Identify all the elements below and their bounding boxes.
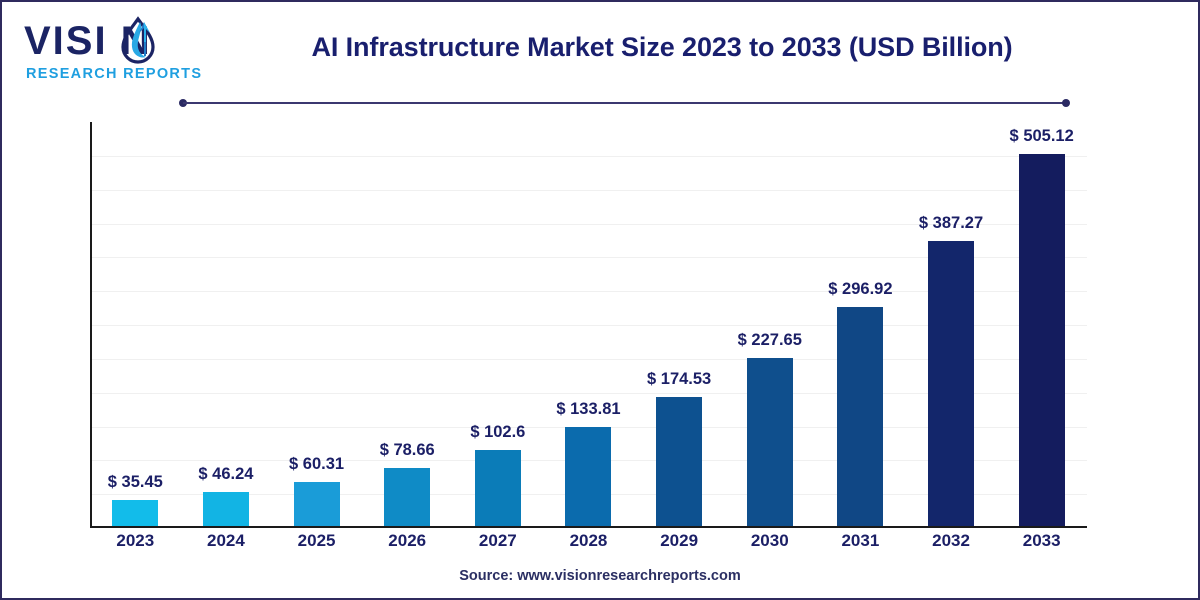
bar-slot: $ 46.24 <box>181 122 272 526</box>
x-axis-tick-2032: 2032 <box>906 531 997 551</box>
x-axis-tick-2028: 2028 <box>543 531 634 551</box>
x-axis-tick-2030: 2030 <box>724 531 815 551</box>
x-axis-tick-2026: 2026 <box>362 531 453 551</box>
x-axis-tick-labels: 2023202420252026202720282029203020312032… <box>90 531 1087 559</box>
bar-chart-plot-area: $ 35.45$ 46.24$ 60.31$ 78.66$ 102.6$ 133… <box>90 122 1087 528</box>
bar-value-label: $ 227.65 <box>738 331 802 350</box>
bar[interactable] <box>837 307 883 526</box>
source-caption: Source: www.visionresearchreports.com <box>2 568 1198 584</box>
logo-tagline: RESEARCH REPORTS <box>26 66 202 82</box>
x-axis-line <box>90 526 1087 528</box>
logo-wordmark: VISI N <box>24 18 204 64</box>
bar-value-label: $ 35.45 <box>108 473 163 492</box>
bar-slot: $ 505.12 <box>996 122 1087 526</box>
x-axis-tick-2033: 2033 <box>996 531 1087 551</box>
bar-slot: $ 35.45 <box>90 122 181 526</box>
header-divider <box>179 101 1070 104</box>
bar-value-label: $ 78.66 <box>380 441 435 460</box>
bar-slot: $ 102.6 <box>453 122 544 526</box>
bar-value-label: $ 174.53 <box>647 370 711 389</box>
chart-page: VISI N RESEARCH REPORTS AI Infrastructur… <box>0 0 1200 600</box>
bar-slot: $ 227.65 <box>724 122 815 526</box>
vision-research-reports-logo: VISI N RESEARCH REPORTS <box>24 18 204 88</box>
bar[interactable] <box>384 468 430 526</box>
bar[interactable] <box>656 397 702 526</box>
bar-value-label: $ 46.24 <box>198 465 253 484</box>
x-axis-tick-2027: 2027 <box>453 531 544 551</box>
bar-slot: $ 296.92 <box>815 122 906 526</box>
bar-slot: $ 60.31 <box>271 122 362 526</box>
bar-slot: $ 174.53 <box>634 122 725 526</box>
bar[interactable] <box>747 358 793 526</box>
divider-rule <box>183 102 1066 104</box>
water-drop-arrow-icon <box>120 16 156 64</box>
bar-value-label: $ 296.92 <box>828 280 892 299</box>
bar-value-label: $ 505.12 <box>1010 127 1074 146</box>
bar[interactable] <box>294 482 340 526</box>
bar-value-label: $ 102.6 <box>470 423 525 442</box>
bar[interactable] <box>1019 154 1065 526</box>
x-axis-tick-2031: 2031 <box>815 531 906 551</box>
bar-value-label: $ 60.31 <box>289 455 344 474</box>
bar[interactable] <box>203 492 249 526</box>
bar-series: $ 35.45$ 46.24$ 60.31$ 78.66$ 102.6$ 133… <box>90 122 1087 526</box>
bar[interactable] <box>112 500 158 526</box>
x-axis-tick-2025: 2025 <box>271 531 362 551</box>
bar-value-label: $ 133.81 <box>556 400 620 419</box>
bar-slot: $ 78.66 <box>362 122 453 526</box>
bar-slot: $ 387.27 <box>906 122 997 526</box>
x-axis-tick-2023: 2023 <box>90 531 181 551</box>
page-title: AI Infrastructure Market Size 2023 to 20… <box>212 32 1112 63</box>
bar-value-label: $ 387.27 <box>919 214 983 233</box>
x-axis-tick-2024: 2024 <box>181 531 272 551</box>
x-axis-tick-2029: 2029 <box>634 531 725 551</box>
bar[interactable] <box>475 450 521 526</box>
bar[interactable] <box>565 427 611 526</box>
divider-dot-right <box>1062 99 1070 107</box>
bar-slot: $ 133.81 <box>543 122 634 526</box>
bar[interactable] <box>928 241 974 526</box>
